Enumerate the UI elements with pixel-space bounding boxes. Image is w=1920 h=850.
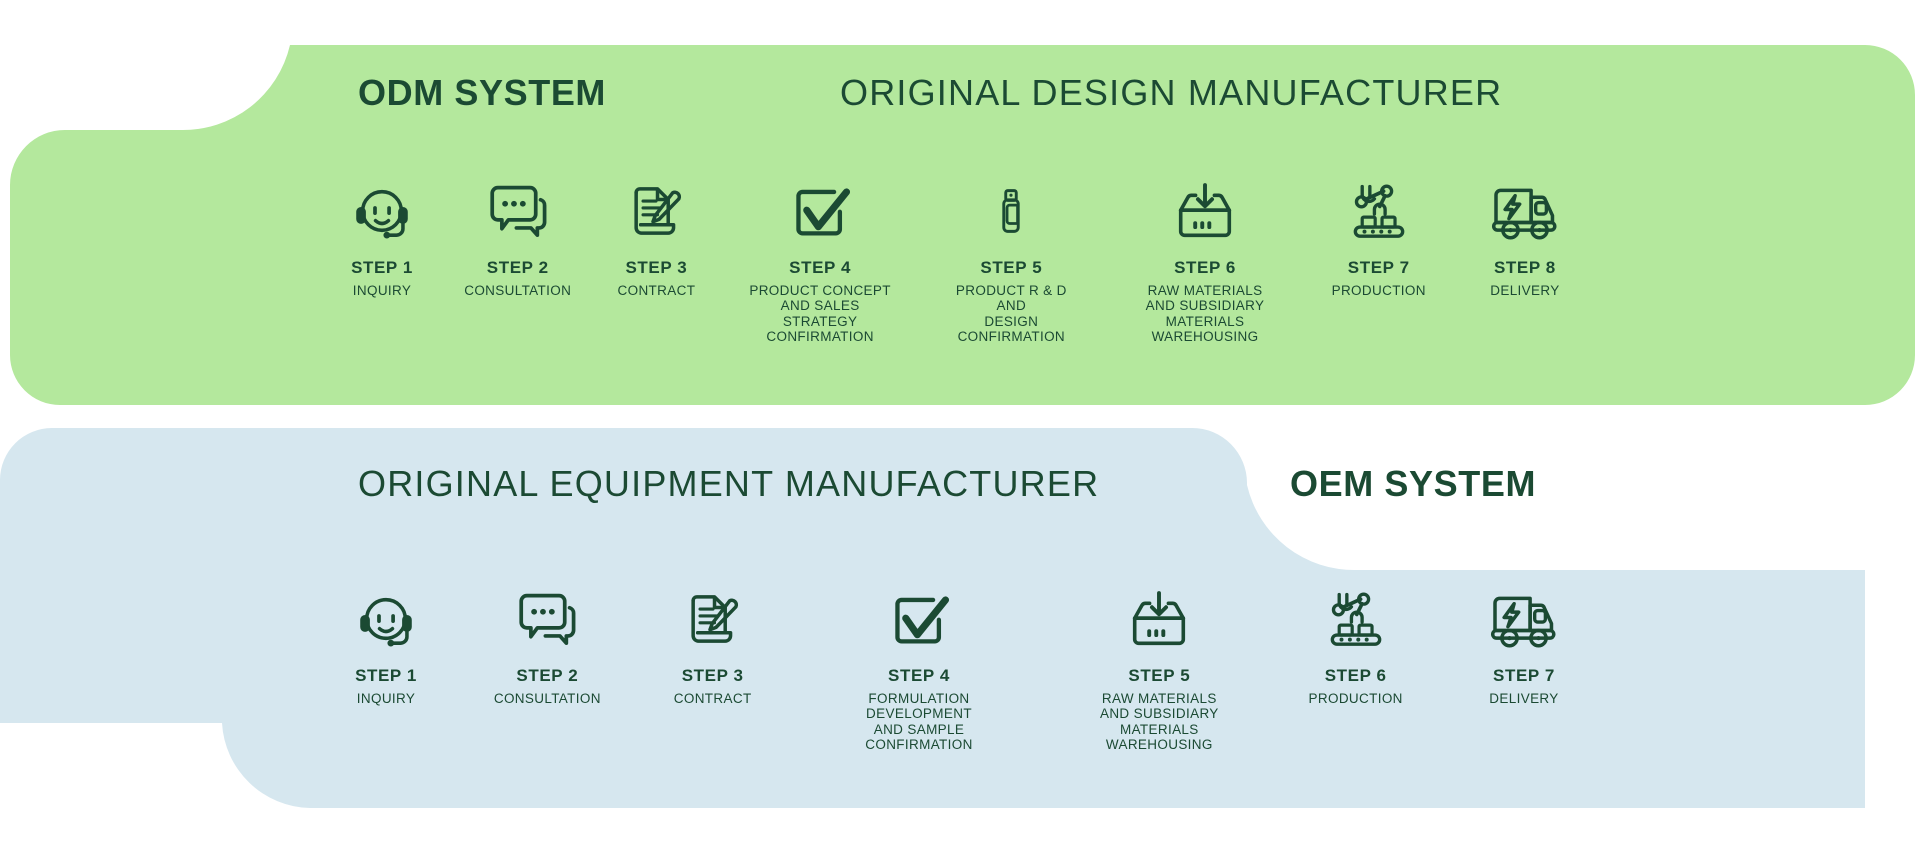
step-item: STEP 8DELIVERY xyxy=(1470,180,1580,298)
delivery-truck-icon xyxy=(1486,588,1562,650)
chat-bubbles-icon xyxy=(513,588,581,650)
step-description: RAW MATERIALS AND SUBSIDIARY MATERIALS W… xyxy=(1123,283,1288,345)
headset-support-icon xyxy=(355,588,417,650)
oem-system-subtitle: ORIGINAL EQUIPMENT MANUFACTURER xyxy=(358,466,1099,502)
contract-document-pen-icon xyxy=(682,588,744,650)
step-number: STEP 7 xyxy=(1348,258,1410,278)
step-item: STEP 6RAW MATERIALS AND SUBSIDIARY MATER… xyxy=(1123,180,1288,345)
contract-document-pen-icon xyxy=(625,180,687,242)
step-item: STEP 2CONSULTATION xyxy=(463,180,573,298)
chat-bubbles-icon xyxy=(484,180,552,242)
spray-bottle-icon xyxy=(988,180,1034,242)
step-item: STEP 7DELIVERY xyxy=(1468,588,1580,706)
step-description: INQUIRY xyxy=(357,691,415,707)
step-number: STEP 4 xyxy=(789,258,851,278)
step-number: STEP 2 xyxy=(516,666,578,686)
step-item: STEP 6PRODUCTION xyxy=(1300,588,1412,706)
step-description: CONSULTATION xyxy=(494,691,601,707)
step-description: DELIVERY xyxy=(1490,283,1559,299)
odm-step-list: STEP 1INQUIRYSTEP 2CONSULTATIONSTEP 3CON… xyxy=(340,180,1580,345)
step-item: STEP 7PRODUCTION xyxy=(1326,180,1431,298)
checkmark-box-icon xyxy=(788,180,852,242)
oem-system-title: OEM SYSTEM xyxy=(1290,466,1536,502)
step-description: FORMULATION DEVELOPMENT AND SAMPLE CONFI… xyxy=(819,691,1019,753)
robot-arm-conveyor-icon xyxy=(1325,588,1387,650)
step-item: STEP 1INQUIRY xyxy=(340,588,432,706)
step-number: STEP 2 xyxy=(487,258,549,278)
inbox-box-arrow-icon xyxy=(1127,588,1191,650)
headset-support-icon xyxy=(351,180,413,242)
step-number: STEP 5 xyxy=(980,258,1042,278)
oem-step-list: STEP 1INQUIRYSTEP 2CONSULTATIONSTEP 3CON… xyxy=(340,588,1580,753)
step-number: STEP 1 xyxy=(355,666,417,686)
step-item: STEP 3CONTRACT xyxy=(611,180,701,298)
robot-arm-conveyor-icon xyxy=(1348,180,1410,242)
step-description: PRODUCTION xyxy=(1309,691,1403,707)
step-item: STEP 5PRODUCT R & D AND DESIGN CONFIRMAT… xyxy=(939,180,1084,345)
odm-system-title: ODM SYSTEM xyxy=(358,75,606,111)
step-description: CONTRACT xyxy=(674,691,752,707)
step-item: STEP 2CONSULTATION xyxy=(488,588,606,706)
step-number: STEP 7 xyxy=(1493,666,1555,686)
step-number: STEP 1 xyxy=(351,258,413,278)
step-description: INQUIRY xyxy=(353,283,411,299)
step-description: PRODUCTION xyxy=(1332,283,1426,299)
step-number: STEP 3 xyxy=(625,258,687,278)
step-number: STEP 8 xyxy=(1494,258,1556,278)
delivery-truck-icon xyxy=(1487,180,1563,242)
step-item: STEP 4PRODUCT CONCEPT AND SALES STRATEGY… xyxy=(740,180,900,345)
step-description: PRODUCT CONCEPT AND SALES STRATEGY CONFI… xyxy=(740,283,900,345)
step-number: STEP 3 xyxy=(682,666,744,686)
step-item: STEP 4FORMULATION DEVELOPMENT AND SAMPLE… xyxy=(819,588,1019,753)
step-description: CONSULTATION xyxy=(464,283,571,299)
step-item: STEP 3CONTRACT xyxy=(663,588,763,706)
step-description: PRODUCT R & D AND DESIGN CONFIRMATION xyxy=(939,283,1084,345)
step-description: RAW MATERIALS AND SUBSIDIARY MATERIALS W… xyxy=(1075,691,1243,753)
step-description: DELIVERY xyxy=(1489,691,1558,707)
step-number: STEP 6 xyxy=(1325,666,1387,686)
step-number: STEP 4 xyxy=(888,666,950,686)
infographic-canvas: ODM SYSTEM ORIGINAL DESIGN MANUFACTURER … xyxy=(0,0,1920,850)
step-number: STEP 6 xyxy=(1174,258,1236,278)
step-item: STEP 5RAW MATERIALS AND SUBSIDIARY MATER… xyxy=(1075,588,1243,753)
step-item: STEP 1INQUIRY xyxy=(340,180,424,298)
inbox-box-arrow-icon xyxy=(1173,180,1237,242)
step-number: STEP 5 xyxy=(1128,666,1190,686)
step-description: CONTRACT xyxy=(618,283,696,299)
odm-system-subtitle: ORIGINAL DESIGN MANUFACTURER xyxy=(840,75,1502,111)
checkmark-box-icon xyxy=(887,588,951,650)
